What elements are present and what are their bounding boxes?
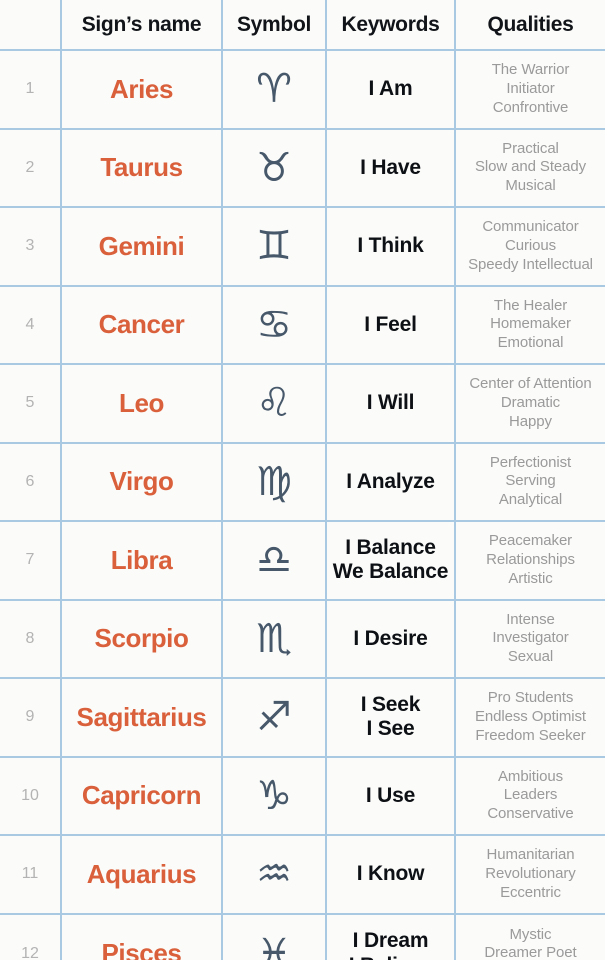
sagittarius-symbol-icon: ♐ (256, 697, 292, 737)
quality-cell: Intense Investigator Sexual (454, 601, 605, 678)
quality-text: Center of Attention Dramatic Happy (469, 375, 591, 431)
quality-cell: Mystic Dreamer Poet Idealistic (454, 915, 605, 960)
row-number: 7 (26, 551, 35, 569)
keyword-text: I Have (360, 156, 421, 180)
sign-name: Virgo (110, 468, 174, 495)
symbol-cell: ♒ (221, 836, 325, 913)
row-number-cell: 10 (0, 758, 60, 835)
sign-name: Aries (110, 76, 173, 103)
row-number-cell: 5 (0, 365, 60, 442)
symbol-cell: ♑ (221, 758, 325, 835)
pisces-symbol-icon: ♓ (256, 934, 292, 960)
sign-name: Taurus (100, 154, 182, 181)
symbol-cell: ♐ (221, 679, 325, 756)
keyword-text: I Know (357, 862, 425, 886)
sign-name-cell: Cancer (60, 287, 221, 364)
quality-text: Practical Slow and Steady Musical (475, 140, 586, 196)
table-row: 7 Libra ♎ I Balance We Balance Peacemake… (0, 522, 605, 601)
sign-name-cell: Aquarius (60, 836, 221, 913)
sign-name-cell: Virgo (60, 444, 221, 521)
row-number-cell: 4 (0, 287, 60, 364)
sign-name-cell: Aries (60, 51, 221, 128)
sign-name-cell: Leo (60, 365, 221, 442)
symbol-cell: ♈ (221, 51, 325, 128)
row-number: 4 (26, 316, 35, 334)
symbol-cell: ♓ (221, 915, 325, 960)
keyword-cell: I Am (325, 51, 454, 128)
header-cell-number (0, 0, 60, 49)
quality-cell: The Warrior Initiator Confrontive (454, 51, 605, 128)
quality-text: The Healer Homemaker Emotional (490, 297, 571, 353)
capricorn-symbol-icon: ♑ (256, 776, 292, 816)
sign-name-cell: Libra (60, 522, 221, 599)
quality-text: Pro Students Endless Optimist Freedom Se… (475, 689, 586, 745)
quality-text: Peacemaker Relationships Artistic (486, 532, 575, 588)
keyword-cell: I Will (325, 365, 454, 442)
symbol-cell: ♊ (221, 208, 325, 285)
leo-symbol-icon: ♌ (256, 383, 292, 423)
row-number-cell: 6 (0, 444, 60, 521)
libra-symbol-icon: ♎ (256, 540, 292, 580)
gemini-symbol-icon: ♊ (256, 226, 292, 266)
symbol-cell: ♌ (221, 365, 325, 442)
header-label-sign-name: Sign’s name (82, 13, 202, 37)
keyword-text: I Desire (353, 627, 427, 651)
keyword-text: I Seek I See (361, 693, 421, 742)
quality-text: The Warrior Initiator Confrontive (492, 61, 570, 117)
keyword-cell: I Know (325, 836, 454, 913)
zodiac-signs-table: Sign’s name Symbol Keywords Qualities 1 … (0, 0, 605, 960)
sign-name: Aquarius (87, 861, 196, 888)
sign-name: Gemini (99, 233, 185, 260)
row-number-cell: 8 (0, 601, 60, 678)
quality-cell: Communicator Curious Speedy Intellectual (454, 208, 605, 285)
taurus-symbol-icon: ♉ (256, 148, 292, 188)
table-row: 2 Taurus ♉ I Have Practical Slow and Ste… (0, 130, 605, 209)
keyword-text: I Will (367, 391, 415, 415)
keyword-cell: I Dream I Believe (325, 915, 454, 960)
table-row: 1 Aries ♈ I Am The Warrior Initiator Con… (0, 51, 605, 130)
keyword-cell: I Feel (325, 287, 454, 364)
table-header-row: Sign’s name Symbol Keywords Qualities (0, 0, 605, 51)
sign-name: Sagittarius (77, 704, 207, 731)
scorpio-symbol-icon: ♏ (256, 619, 292, 659)
table-row: 5 Leo ♌ I Will Center of Attention Drama… (0, 365, 605, 444)
keyword-text: I Am (369, 77, 413, 101)
table-row: 11 Aquarius ♒ I Know Humanitarian Revolu… (0, 836, 605, 915)
sign-name: Scorpio (95, 625, 189, 652)
sign-name: Libra (111, 547, 173, 574)
symbol-cell: ♋ (221, 287, 325, 364)
row-number: 11 (22, 865, 39, 883)
quality-cell: Ambitious Leaders Conservative (454, 758, 605, 835)
row-number: 12 (21, 945, 39, 960)
table-row: 8 Scorpio ♏ I Desire Intense Investigato… (0, 601, 605, 680)
keyword-text: I Think (357, 234, 423, 258)
quality-cell: Perfectionist Serving Analytical (454, 444, 605, 521)
quality-text: Perfectionist Serving Analytical (490, 454, 571, 510)
row-number-cell: 12 (0, 915, 60, 960)
sign-name-cell: Capricorn (60, 758, 221, 835)
row-number: 3 (26, 237, 35, 255)
keyword-text: I Use (366, 784, 415, 808)
keyword-cell: I Think (325, 208, 454, 285)
symbol-cell: ♍ (221, 444, 325, 521)
quality-text: Humanitarian Revolutionary Eccentric (485, 846, 575, 902)
sign-name: Capricorn (82, 782, 201, 809)
row-number-cell: 2 (0, 130, 60, 207)
keyword-cell: I Use (325, 758, 454, 835)
sign-name-cell: Pisces (60, 915, 221, 960)
quality-cell: Center of Attention Dramatic Happy (454, 365, 605, 442)
keyword-cell: I Balance We Balance (325, 522, 454, 599)
table-row: 12 Pisces ♓ I Dream I Believe Mystic Dre… (0, 915, 605, 960)
header-cell-keywords: Keywords (325, 0, 454, 49)
table-row: 6 Virgo ♍ I Analyze Perfectionist Servin… (0, 444, 605, 523)
quality-text: Ambitious Leaders Conservative (487, 768, 573, 824)
symbol-cell: ♉ (221, 130, 325, 207)
table-row: 9 Sagittarius ♐ I Seek I See Pro Student… (0, 679, 605, 758)
keyword-cell: I Seek I See (325, 679, 454, 756)
sign-name: Leo (119, 390, 164, 417)
quality-text: Communicator Curious Speedy Intellectual (468, 218, 593, 274)
row-number: 2 (26, 159, 35, 177)
row-number: 9 (26, 708, 35, 726)
keyword-text: I Balance We Balance (333, 536, 449, 585)
quality-cell: The Healer Homemaker Emotional (454, 287, 605, 364)
quality-text: Mystic Dreamer Poet Idealistic (484, 926, 576, 960)
sign-name-cell: Scorpio (60, 601, 221, 678)
header-cell-symbol: Symbol (221, 0, 325, 49)
cancer-symbol-icon: ♋ (256, 305, 292, 345)
table-row: 4 Cancer ♋ I Feel The Healer Homemaker E… (0, 287, 605, 366)
quality-cell: Peacemaker Relationships Artistic (454, 522, 605, 599)
sign-name-cell: Gemini (60, 208, 221, 285)
keyword-cell: I Have (325, 130, 454, 207)
table-row: 10 Capricorn ♑ I Use Ambitious Leaders C… (0, 758, 605, 837)
row-number: 5 (26, 394, 35, 412)
row-number: 10 (21, 787, 39, 805)
sign-name-cell: Sagittarius (60, 679, 221, 756)
quality-cell: Pro Students Endless Optimist Freedom Se… (454, 679, 605, 756)
sign-name: Cancer (99, 311, 185, 338)
row-number-cell: 7 (0, 522, 60, 599)
symbol-cell: ♏ (221, 601, 325, 678)
keyword-cell: I Desire (325, 601, 454, 678)
sign-name: Pisces (101, 940, 181, 960)
virgo-symbol-icon: ♍ (256, 462, 292, 502)
quality-text: Intense Investigator Sexual (492, 611, 568, 667)
row-number-cell: 9 (0, 679, 60, 756)
keyword-text: I Analyze (346, 470, 434, 494)
row-number: 6 (26, 473, 35, 491)
row-number-cell: 3 (0, 208, 60, 285)
header-label-symbol: Symbol (237, 13, 311, 37)
row-number-cell: 1 (0, 51, 60, 128)
keyword-text: I Feel (364, 313, 417, 337)
header-cell-qualities: Qualities (454, 0, 605, 49)
sign-name-cell: Taurus (60, 130, 221, 207)
keyword-cell: I Analyze (325, 444, 454, 521)
row-number: 1 (26, 80, 35, 98)
row-number: 8 (26, 630, 35, 648)
keyword-text: I Dream I Believe (349, 929, 432, 960)
aquarius-symbol-icon: ♒ (256, 854, 292, 894)
quality-cell: Practical Slow and Steady Musical (454, 130, 605, 207)
table-row: 3 Gemini ♊ I Think Communicator Curious … (0, 208, 605, 287)
header-cell-sign-name: Sign’s name (60, 0, 221, 49)
symbol-cell: ♎ (221, 522, 325, 599)
row-number-cell: 11 (0, 836, 60, 913)
aries-symbol-icon: ♈ (256, 69, 292, 109)
header-label-keywords: Keywords (342, 13, 440, 37)
header-label-qualities: Qualities (488, 13, 574, 37)
quality-cell: Humanitarian Revolutionary Eccentric (454, 836, 605, 913)
